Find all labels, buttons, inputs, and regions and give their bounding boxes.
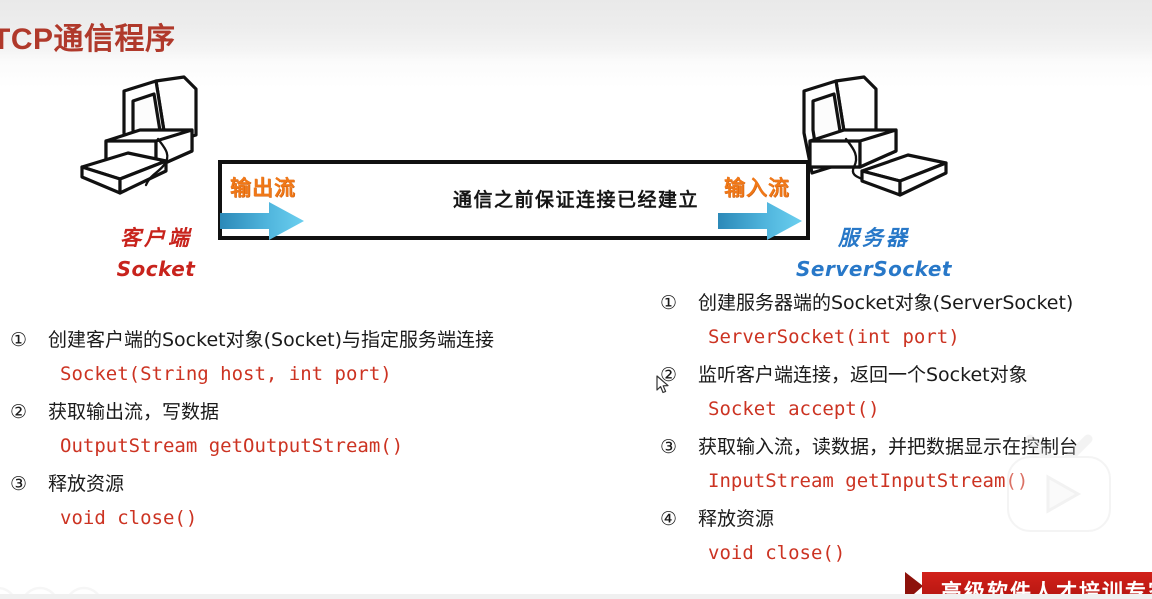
client-step-row: ③释放资源 — [10, 469, 630, 499]
server-step-code: Socket accept() — [708, 394, 1152, 424]
client-step-row: ①创建客户端的Socket对象(Socket)与指定服务端连接 — [10, 325, 630, 355]
server-step-row: ②监听客户端连接，返回一个Socket对象 — [660, 360, 1152, 390]
client-steps-list: ①创建客户端的Socket对象(Socket)与指定服务端连接Socket(St… — [10, 325, 630, 541]
server-step-text: 释放资源 — [698, 504, 774, 534]
client-step-code: void close() — [60, 503, 630, 533]
client-role-cn: 客户端 — [36, 222, 276, 252]
client-step-code: Socket(String host, int port) — [60, 359, 630, 389]
server-step-row: ①创建服务器端的Socket对象(ServerSocket) — [660, 288, 1152, 318]
client-role-en: Socket — [36, 257, 276, 281]
client-step-number: ② — [10, 397, 48, 427]
server-step-text: 创建服务器端的Socket对象(ServerSocket) — [698, 288, 1073, 318]
client-step-text: 获取输出流，写数据 — [48, 397, 219, 427]
server-step-code: InputStream getInputStream() — [708, 466, 1152, 496]
server-step-code: ServerSocket(int port) — [708, 322, 1152, 352]
server-role-label: 服务器 ServerSocket — [754, 222, 994, 281]
client-computer-icon — [80, 75, 230, 200]
server-step-number: ① — [660, 288, 698, 318]
server-step-text: 获取输入流，读数据，并把数据显示在控制台 — [698, 432, 1078, 462]
server-steps-list: ①创建服务器端的Socket对象(ServerSocket)ServerSock… — [660, 288, 1152, 576]
client-step-code: OutputStream getOutputStream() — [60, 431, 630, 461]
client-step-number: ① — [10, 325, 48, 355]
tcp-communication-diagram: 输出流 输入流 — [0, 62, 1152, 287]
bottom-strip — [0, 594, 1152, 599]
server-step-number: ④ — [660, 504, 698, 534]
page-title: TCP通信程序 — [0, 14, 176, 58]
client-step-text: 释放资源 — [48, 469, 124, 499]
server-role-en: ServerSocket — [754, 257, 994, 281]
client-step-text: 创建客户端的Socket对象(Socket)与指定服务端连接 — [48, 325, 494, 355]
server-role-cn: 服务器 — [754, 222, 994, 252]
connection-caption: 通信之前保证连接已经建立 — [0, 185, 1152, 212]
slide-canvas: TCP通信程序 — [0, 0, 1152, 599]
server-step-text: 监听客户端连接，返回一个Socket对象 — [698, 360, 1028, 390]
server-computer-icon — [800, 75, 950, 200]
client-step-row: ②获取输出流，写数据 — [10, 397, 630, 427]
server-step-code: void close() — [708, 538, 1152, 568]
client-step-number: ③ — [10, 469, 48, 499]
client-role-label: 客户端 Socket — [36, 222, 276, 281]
server-step-row: ③获取输入流，读数据，并把数据显示在控制台 — [660, 432, 1152, 462]
server-step-number: ③ — [660, 432, 698, 462]
server-step-number: ② — [660, 360, 698, 390]
server-step-row: ④释放资源 — [660, 504, 1152, 534]
